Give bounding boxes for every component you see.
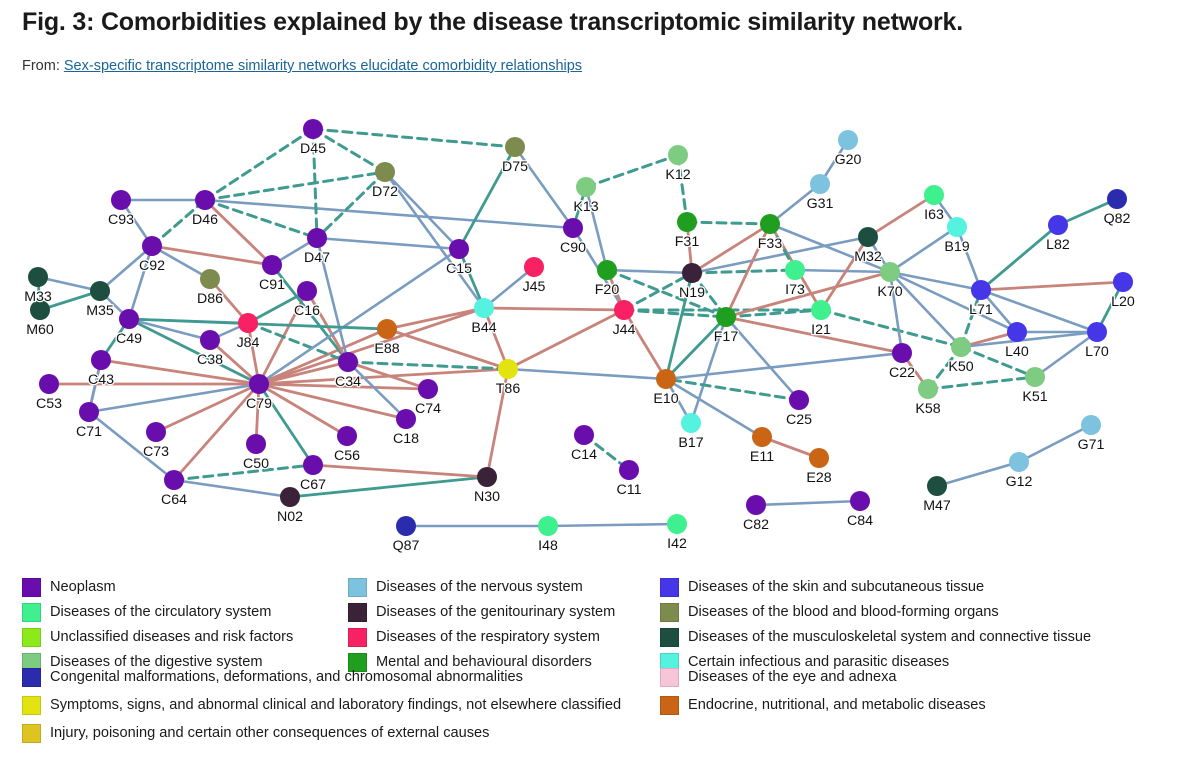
node-label-C25: C25 — [786, 412, 812, 428]
graph-node-N30[interactable] — [477, 467, 497, 487]
node-label-E11: E11 — [750, 449, 774, 465]
legend-swatch-genitourinary — [348, 603, 367, 622]
graph-edge — [348, 362, 508, 369]
graph-node-C14[interactable] — [574, 425, 594, 445]
graph-edge — [890, 272, 1017, 332]
node-label-B17: B17 — [678, 435, 703, 451]
graph-node-F20[interactable] — [597, 260, 617, 280]
node-label-D72: D72 — [372, 184, 398, 200]
graph-node-M47[interactable] — [927, 476, 947, 496]
legend-item-symptoms: Symptoms, signs, and abnormal clinical a… — [22, 696, 621, 715]
graph-node-C38[interactable] — [200, 330, 220, 350]
graph-node-D45[interactable] — [303, 119, 323, 139]
graph-node-M32[interactable] — [858, 227, 878, 247]
node-label-I48: I48 — [538, 538, 558, 554]
graph-edge — [981, 282, 1123, 290]
graph-node-C74[interactable] — [418, 379, 438, 399]
source-article-link[interactable]: Sex-specific transcriptome similarity ne… — [64, 58, 582, 74]
graph-node-K12[interactable] — [668, 145, 688, 165]
graph-edge — [678, 155, 687, 222]
graph-edge — [756, 501, 860, 505]
graph-edge — [205, 129, 313, 200]
graph-node-C67[interactable] — [303, 455, 323, 475]
graph-node-C50[interactable] — [246, 434, 266, 454]
node-label-L71: L71 — [969, 302, 993, 318]
graph-node-G20[interactable] — [838, 130, 858, 150]
node-label-L20: L20 — [1111, 294, 1135, 310]
graph-edge — [484, 308, 624, 310]
node-label-I73: I73 — [785, 282, 805, 298]
legend-swatch-musculoskeletal — [660, 628, 679, 647]
graph-node-L20[interactable] — [1113, 272, 1133, 292]
graph-edge — [666, 353, 902, 379]
node-label-E28: E28 — [806, 470, 831, 486]
graph-node-C11[interactable] — [619, 460, 639, 480]
graph-edge — [666, 379, 762, 437]
graph-node-M35[interactable] — [90, 281, 110, 301]
node-label-C84: C84 — [847, 513, 873, 529]
node-label-K70: K70 — [877, 284, 902, 300]
node-label-D47: D47 — [304, 250, 330, 266]
node-label-N02: N02 — [277, 509, 303, 525]
legend-swatch-endocrine — [660, 696, 679, 715]
node-label-C38: C38 — [197, 352, 223, 368]
graph-edge — [508, 310, 624, 369]
node-label-C50: C50 — [243, 456, 269, 472]
legend-swatch-skin — [660, 578, 679, 597]
graph-node-E10[interactable] — [656, 369, 676, 389]
graph-edge — [313, 465, 487, 477]
graph-node-Q87[interactable] — [396, 516, 416, 536]
node-label-C34: C34 — [335, 374, 361, 390]
node-label-C93: C93 — [108, 212, 134, 228]
graph-node-F33[interactable] — [760, 214, 780, 234]
graph-node-B17[interactable] — [681, 413, 701, 433]
node-label-G71: G71 — [1078, 437, 1105, 453]
graph-node-C53[interactable] — [39, 374, 59, 394]
node-label-I21: I21 — [811, 322, 831, 338]
from-label: From: — [22, 58, 60, 74]
legend-item-unclassified: Unclassified diseases and risk factors — [22, 628, 293, 647]
graph-node-K51[interactable] — [1025, 367, 1045, 387]
graph-node-I63[interactable] — [924, 185, 944, 205]
legend-label: Endocrine, nutritional, and metabolic di… — [688, 698, 986, 713]
node-label-D45: D45 — [300, 141, 326, 157]
graph-node-K50[interactable] — [951, 337, 971, 357]
legend-swatch-circulatory — [22, 603, 41, 622]
graph-node-C34[interactable] — [338, 352, 358, 372]
graph-node-I42[interactable] — [667, 514, 687, 534]
legend-swatch-congenital — [22, 668, 41, 687]
node-label-B44: B44 — [471, 320, 496, 336]
legend-item-respiratory: Diseases of the respiratory system — [348, 628, 600, 647]
graph-node-I73[interactable] — [785, 260, 805, 280]
node-label-J45: J45 — [523, 279, 546, 295]
graph-node-N19[interactable] — [682, 263, 702, 283]
node-label-T86: T86 — [496, 381, 521, 397]
graph-edge — [607, 270, 692, 273]
legend-item-blood: Diseases of the blood and blood-forming … — [660, 603, 999, 622]
legend-item-eye: Diseases of the eye and adnexa — [660, 668, 897, 687]
node-label-E88: E88 — [374, 341, 399, 357]
graph-node-C25[interactable] — [789, 390, 809, 410]
graph-node-I48[interactable] — [538, 516, 558, 536]
legend-label: Diseases of the nervous system — [376, 580, 583, 595]
node-label-B19: B19 — [944, 239, 969, 255]
graph-node-C22[interactable] — [892, 343, 912, 363]
graph-node-G71[interactable] — [1081, 415, 1101, 435]
legend-item-nervous: Diseases of the nervous system — [348, 578, 583, 597]
node-label-K51: K51 — [1022, 389, 1047, 405]
node-label-C22: C22 — [889, 365, 915, 381]
graph-node-B19[interactable] — [947, 217, 967, 237]
graph-node-C90[interactable] — [563, 218, 583, 238]
graph-edge — [624, 310, 666, 379]
legend-label: Diseases of the blood and blood-forming … — [688, 605, 999, 620]
node-label-C82: C82 — [743, 517, 769, 533]
node-label-G31: G31 — [807, 196, 834, 212]
graph-edge — [205, 200, 317, 238]
graph-node-C73[interactable] — [146, 422, 166, 442]
graph-node-K70[interactable] — [880, 262, 900, 282]
node-label-D86: D86 — [197, 291, 223, 307]
node-label-G12: G12 — [1006, 474, 1033, 490]
graph-node-D75[interactable] — [505, 137, 525, 157]
node-label-M32: M32 — [854, 249, 882, 265]
graph-node-D47[interactable] — [307, 228, 327, 248]
node-label-K12: K12 — [665, 167, 690, 183]
legend-item-injury: Injury, poisoning and certain other cons… — [22, 724, 489, 743]
node-label-C53: C53 — [36, 396, 62, 412]
node-label-F31: F31 — [675, 234, 700, 250]
legend-label: Neoplasm — [50, 580, 116, 595]
node-label-K58: K58 — [915, 401, 940, 417]
node-label-K13: K13 — [573, 199, 598, 215]
graph-edge — [259, 329, 387, 384]
node-label-C15: C15 — [446, 261, 472, 277]
legend-swatch-eye — [660, 668, 679, 687]
legend-swatch-blood — [660, 603, 679, 622]
legend-swatch-nervous — [348, 578, 367, 597]
node-label-M33: M33 — [24, 289, 52, 305]
node-label-Q82: Q82 — [1104, 211, 1131, 227]
node-label-N30: N30 — [474, 489, 500, 505]
legend-label: Diseases of the genitourinary system — [376, 605, 615, 620]
figure-title: Fig. 3: Comorbidities explained by the d… — [22, 8, 1172, 37]
legend-label: Diseases of the musculoskeletal system a… — [688, 630, 1091, 645]
graph-node-M33[interactable] — [28, 267, 48, 287]
legend-swatch-unclassified — [22, 628, 41, 647]
graph-node-J44[interactable] — [614, 300, 634, 320]
legend-swatch-neoplasm — [22, 578, 41, 597]
graph-edge — [981, 225, 1058, 290]
graph-node-C18[interactable] — [396, 409, 416, 429]
node-label-C90: C90 — [560, 240, 586, 256]
graph-edge — [259, 249, 459, 384]
figure-source: From: Sex-specific transcriptome similar… — [22, 58, 582, 74]
graph-edge — [313, 129, 515, 147]
node-label-C92: C92 — [139, 258, 165, 274]
node-label-C67: C67 — [300, 477, 326, 493]
node-label-C91: C91 — [259, 277, 285, 293]
graph-edge — [928, 377, 1035, 389]
graph-node-C92[interactable] — [142, 236, 162, 256]
graph-edge — [89, 384, 259, 412]
legend-label: Symptoms, signs, and abnormal clinical a… — [50, 698, 621, 713]
graph-node-L70[interactable] — [1087, 322, 1107, 342]
legend-item-circulatory: Diseases of the circulatory system — [22, 603, 271, 622]
node-label-C11: C11 — [617, 482, 642, 498]
graph-edge — [586, 155, 678, 187]
node-label-C56: C56 — [334, 448, 360, 464]
graph-node-C71[interactable] — [79, 402, 99, 422]
node-label-J84: J84 — [237, 335, 260, 351]
graph-node-Q82[interactable] — [1107, 189, 1127, 209]
node-label-F33: F33 — [758, 236, 783, 252]
node-label-D46: D46 — [192, 212, 218, 228]
graph-edge — [548, 524, 677, 526]
graph-node-G31[interactable] — [810, 174, 830, 194]
legend: NeoplasmDiseases of the circulatory syst… — [0, 570, 1198, 730]
node-label-Q87: Q87 — [393, 538, 420, 554]
graph-edge — [259, 384, 347, 436]
node-label-C73: C73 — [143, 444, 169, 460]
graph-node-E28[interactable] — [809, 448, 829, 468]
legend-label: Congenital malformations, deformations, … — [50, 670, 523, 685]
legend-label: Diseases of the eye and adnexa — [688, 670, 897, 685]
node-label-D75: D75 — [502, 159, 528, 175]
node-label-F17: F17 — [714, 329, 739, 345]
graph-node-C91[interactable] — [262, 255, 282, 275]
node-label-I63: I63 — [924, 207, 944, 223]
graph-node-C56[interactable] — [337, 426, 357, 446]
graph-node-C16[interactable] — [297, 281, 317, 301]
legend-swatch-respiratory — [348, 628, 367, 647]
node-label-L40: L40 — [1005, 344, 1029, 360]
graph-node-C49[interactable] — [119, 309, 139, 329]
legend-item-genitourinary: Diseases of the genitourinary system — [348, 603, 615, 622]
graph-node-C79[interactable] — [249, 374, 269, 394]
node-label-L70: L70 — [1085, 344, 1109, 360]
graph-node-T86[interactable] — [498, 359, 518, 379]
node-label-C79: C79 — [246, 396, 272, 412]
node-label-K50: K50 — [948, 359, 973, 375]
graph-node-K13[interactable] — [576, 177, 596, 197]
legend-item-endocrine: Endocrine, nutritional, and metabolic di… — [660, 696, 986, 715]
graph-node-J45[interactable] — [524, 257, 544, 277]
graph-node-I21[interactable] — [811, 300, 831, 320]
node-label-C14: C14 — [571, 447, 597, 463]
node-label-E10: E10 — [653, 391, 678, 407]
node-label-C64: C64 — [161, 492, 187, 508]
node-label-M47: M47 — [923, 498, 951, 514]
network-graph: M33M60M35C93C92C49C43C53C71C73C64N02C67C… — [0, 92, 1198, 562]
node-label-C43: C43 — [88, 372, 114, 388]
graph-node-B44[interactable] — [474, 298, 494, 318]
legend-item-musculoskeletal: Diseases of the musculoskeletal system a… — [660, 628, 1091, 647]
legend-label: Diseases of the skin and subcutaneous ti… — [688, 580, 984, 595]
graph-node-E11[interactable] — [752, 427, 772, 447]
graph-edge — [795, 270, 890, 272]
graph-node-D46[interactable] — [195, 190, 215, 210]
node-label-N19: N19 — [679, 285, 705, 301]
graph-node-N02[interactable] — [280, 487, 300, 507]
graph-edge — [259, 384, 406, 419]
graph-edge — [205, 172, 385, 200]
node-label-M60: M60 — [26, 322, 54, 338]
graph-node-F31[interactable] — [677, 212, 697, 232]
graph-edge — [174, 480, 290, 497]
graph-edge — [508, 369, 666, 379]
graph-node-L82[interactable] — [1048, 215, 1068, 235]
graph-edge — [205, 200, 573, 228]
node-label-G20: G20 — [835, 152, 862, 168]
legend-item-neoplasm: Neoplasm — [22, 578, 116, 597]
legend-item-skin: Diseases of the skin and subcutaneous ti… — [660, 578, 984, 597]
node-label-C49: C49 — [116, 331, 142, 347]
graph-node-F17[interactable] — [716, 307, 736, 327]
graph-node-L40[interactable] — [1007, 322, 1027, 342]
graph-node-J84[interactable] — [238, 313, 258, 333]
legend-swatch-injury — [22, 724, 41, 743]
legend-label: Unclassified diseases and risk factors — [50, 630, 293, 645]
node-label-C71: C71 — [76, 424, 102, 440]
legend-swatch-symptoms — [22, 696, 41, 715]
graph-node-C15[interactable] — [449, 239, 469, 259]
graph-node-C93[interactable] — [111, 190, 131, 210]
node-label-C74: C74 — [415, 401, 441, 417]
graph-node-G12[interactable] — [1009, 452, 1029, 472]
node-label-C18: C18 — [393, 431, 419, 447]
graph-node-C43[interactable] — [91, 350, 111, 370]
legend-label: Diseases of the respiratory system — [376, 630, 600, 645]
legend-label: Diseases of the circulatory system — [50, 605, 271, 620]
legend-label: Injury, poisoning and certain other cons… — [50, 726, 489, 741]
graph-node-D72[interactable] — [375, 162, 395, 182]
node-label-F20: F20 — [595, 282, 620, 298]
graph-node-K58[interactable] — [918, 379, 938, 399]
graph-edge — [957, 227, 981, 290]
graph-edge — [961, 332, 1097, 347]
node-label-J44: J44 — [613, 322, 636, 338]
node-label-I42: I42 — [667, 536, 687, 552]
graph-node-C82[interactable] — [746, 495, 766, 515]
graph-node-C64[interactable] — [164, 470, 184, 490]
graph-edge — [687, 222, 770, 224]
node-label-C16: C16 — [294, 303, 320, 319]
legend-item-congenital: Congenital malformations, deformations, … — [22, 668, 523, 687]
node-label-M35: M35 — [86, 303, 114, 319]
node-label-L82: L82 — [1046, 237, 1070, 253]
graph-node-C84[interactable] — [850, 491, 870, 511]
graph-edge — [666, 379, 799, 400]
graph-node-L71[interactable] — [971, 280, 991, 300]
graph-node-D86[interactable] — [200, 269, 220, 289]
graph-node-E88[interactable] — [377, 319, 397, 339]
